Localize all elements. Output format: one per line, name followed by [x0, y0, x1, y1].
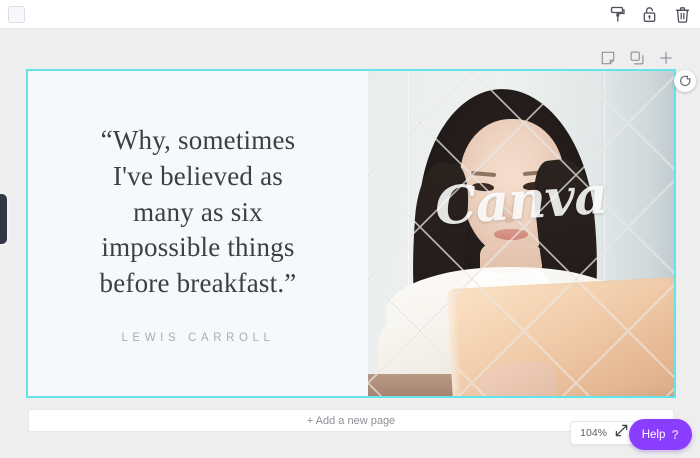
top-toolbar-right — [608, 5, 691, 23]
duplicate-page-icon[interactable] — [629, 50, 644, 65]
quote-line: before breakfast.” — [100, 266, 297, 302]
quote-line: “Why, sometimes — [100, 123, 297, 159]
quote-panel[interactable]: “Why, sometimes I've believed as many as… — [28, 71, 368, 396]
rotate-handle[interactable] — [674, 70, 696, 92]
quote-line: impossible things — [100, 230, 297, 266]
zoom-level-value: 104% — [580, 427, 607, 439]
subject-nose — [501, 197, 517, 223]
photo-element[interactable]: Canva — [368, 71, 674, 396]
canva-editor-window: “Why, sometimes I've believed as many as… — [0, 0, 700, 458]
lock-icon[interactable] — [641, 5, 658, 23]
notes-icon[interactable] — [600, 50, 615, 65]
quote-text[interactable]: “Why, sometimes I've believed as many as… — [100, 123, 297, 303]
design-canvas[interactable]: “Why, sometimes I've believed as many as… — [28, 71, 674, 396]
quote-author[interactable]: LEWIS CARROLL — [121, 332, 274, 344]
subject-lips — [494, 229, 528, 240]
document-thumbnail[interactable] — [8, 6, 25, 23]
help-question-icon: ? — [671, 428, 679, 442]
quote-line: I've believed as — [100, 159, 297, 195]
sidebar-collapse-handle[interactable] — [0, 192, 9, 246]
help-label: Help — [642, 429, 666, 441]
help-button[interactable]: Help ? — [629, 419, 692, 450]
delete-icon[interactable] — [674, 5, 691, 23]
add-page-icon[interactable] — [658, 50, 673, 65]
zoom-control[interactable]: 104% — [570, 421, 638, 445]
top-toolbar — [0, 0, 700, 29]
page-toolbar — [600, 50, 673, 65]
quote-line: many as six — [100, 195, 297, 231]
top-toolbar-left — [8, 6, 25, 23]
expand-arrows-icon[interactable] — [615, 424, 628, 442]
copy-style-icon[interactable] — [608, 5, 625, 23]
